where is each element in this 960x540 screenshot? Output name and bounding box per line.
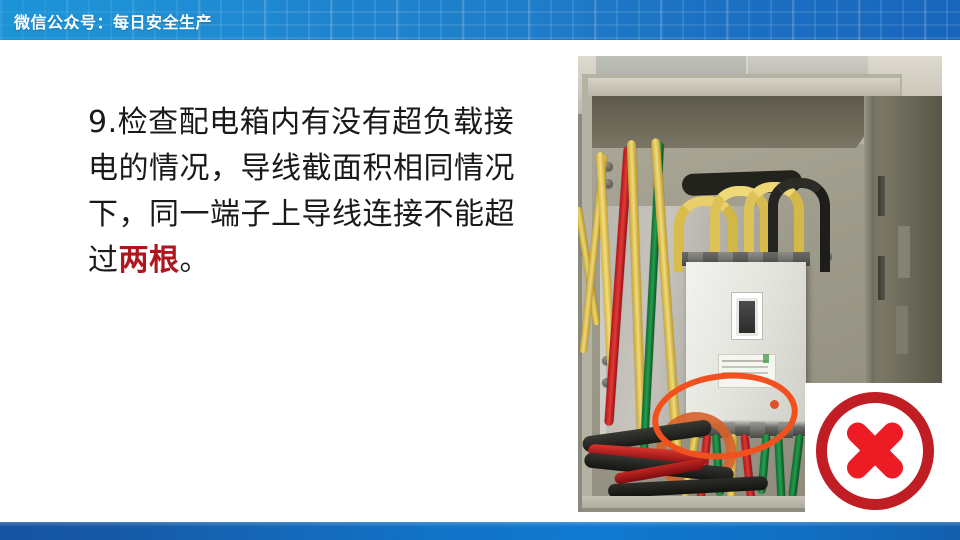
bottom-bar — [0, 522, 960, 540]
photo-door-hinge-lower — [878, 256, 885, 300]
photo-cabinet-lid-underside — [592, 96, 892, 148]
photo-door-hinge-upper — [878, 176, 885, 216]
photo-breaker-green-mark — [763, 354, 769, 363]
red-cross-badge — [805, 383, 945, 518]
photo-door-lip-upper — [898, 226, 910, 278]
body-text-highlight: 两根 — [119, 243, 180, 278]
body-text-suffix: 。 — [180, 243, 211, 278]
slide-body-text: 9.检查配电箱内有没有超负载接电的情况，导线截面积相同情况下，同一端子上导线连接… — [88, 100, 538, 284]
photo-wall-tile-secondary — [748, 56, 868, 76]
photo-breaker-label-lines — [722, 360, 768, 362]
bottom-bar-sheen — [0, 522, 960, 527]
banner-title: 微信公众号：每日安全生产 — [14, 9, 212, 33]
photo-breaker-toggle-switch — [736, 298, 758, 336]
photo-cabinet-top-lid — [588, 78, 900, 98]
top-banner: 微信公众号：每日安全生产 — [0, 0, 960, 40]
photo-door-lip-lower — [896, 306, 908, 354]
